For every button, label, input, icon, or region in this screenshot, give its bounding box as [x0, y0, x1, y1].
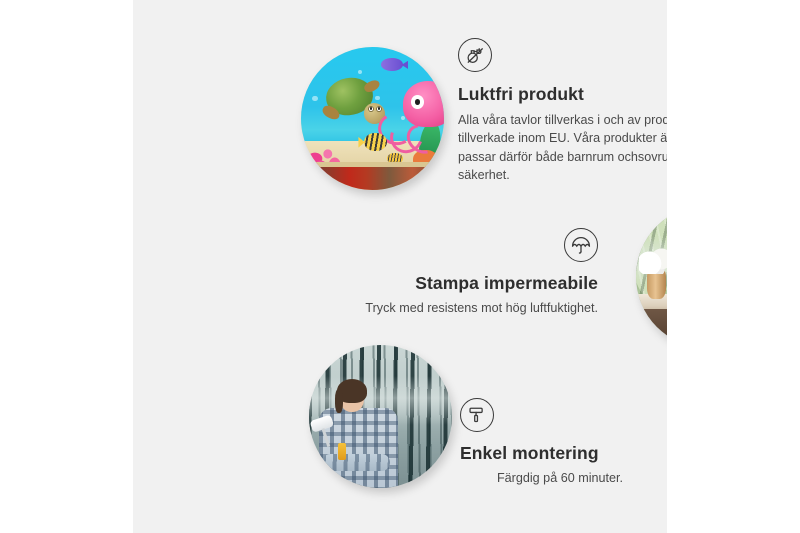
feature-description: Tryck med resistens mot hög luftfuktighe… — [338, 299, 598, 317]
feature-assembly: Enkel montering Färgdig på 60 minuter. — [460, 398, 667, 487]
octopus-icon — [395, 81, 444, 147]
feature-title: Stampa impermeabile — [338, 273, 598, 294]
screenshot-stage: Luktfri produkt Alla våra tavlor tillver… — [0, 0, 800, 533]
product-photo-forest — [309, 345, 452, 488]
feature-odourless: Luktfri produkt Alla våra tavlor tillver… — [458, 38, 667, 185]
vanity-cabinet — [642, 309, 667, 348]
paint-roller-icon — [460, 398, 494, 432]
fish-icon — [381, 58, 402, 71]
product-feature-panel: Luktfri produkt Alla våra tavlor tillver… — [133, 0, 667, 533]
flowers-icon — [639, 248, 667, 274]
feature-waterproof: Stampa impermeabile Tryck med resistens … — [338, 228, 598, 317]
photo-bottom-strip — [301, 166, 444, 190]
sea-turtle-icon — [321, 78, 384, 129]
product-photo-sea — [301, 47, 444, 190]
product-photo-bathroom — [636, 205, 667, 348]
person-with-paint-roller — [318, 382, 398, 488]
umbrella-icon — [564, 228, 598, 262]
feature-title: Luktfri produkt — [458, 84, 667, 105]
no-odour-spray-bottle-icon — [458, 38, 492, 72]
feature-description: Alla våra tavlor tillverkas i och av pro… — [458, 111, 667, 185]
feature-title: Enkel montering — [460, 443, 667, 464]
fish-icon — [364, 133, 387, 152]
feature-description: Färgdig på 60 minuter. — [460, 469, 660, 487]
